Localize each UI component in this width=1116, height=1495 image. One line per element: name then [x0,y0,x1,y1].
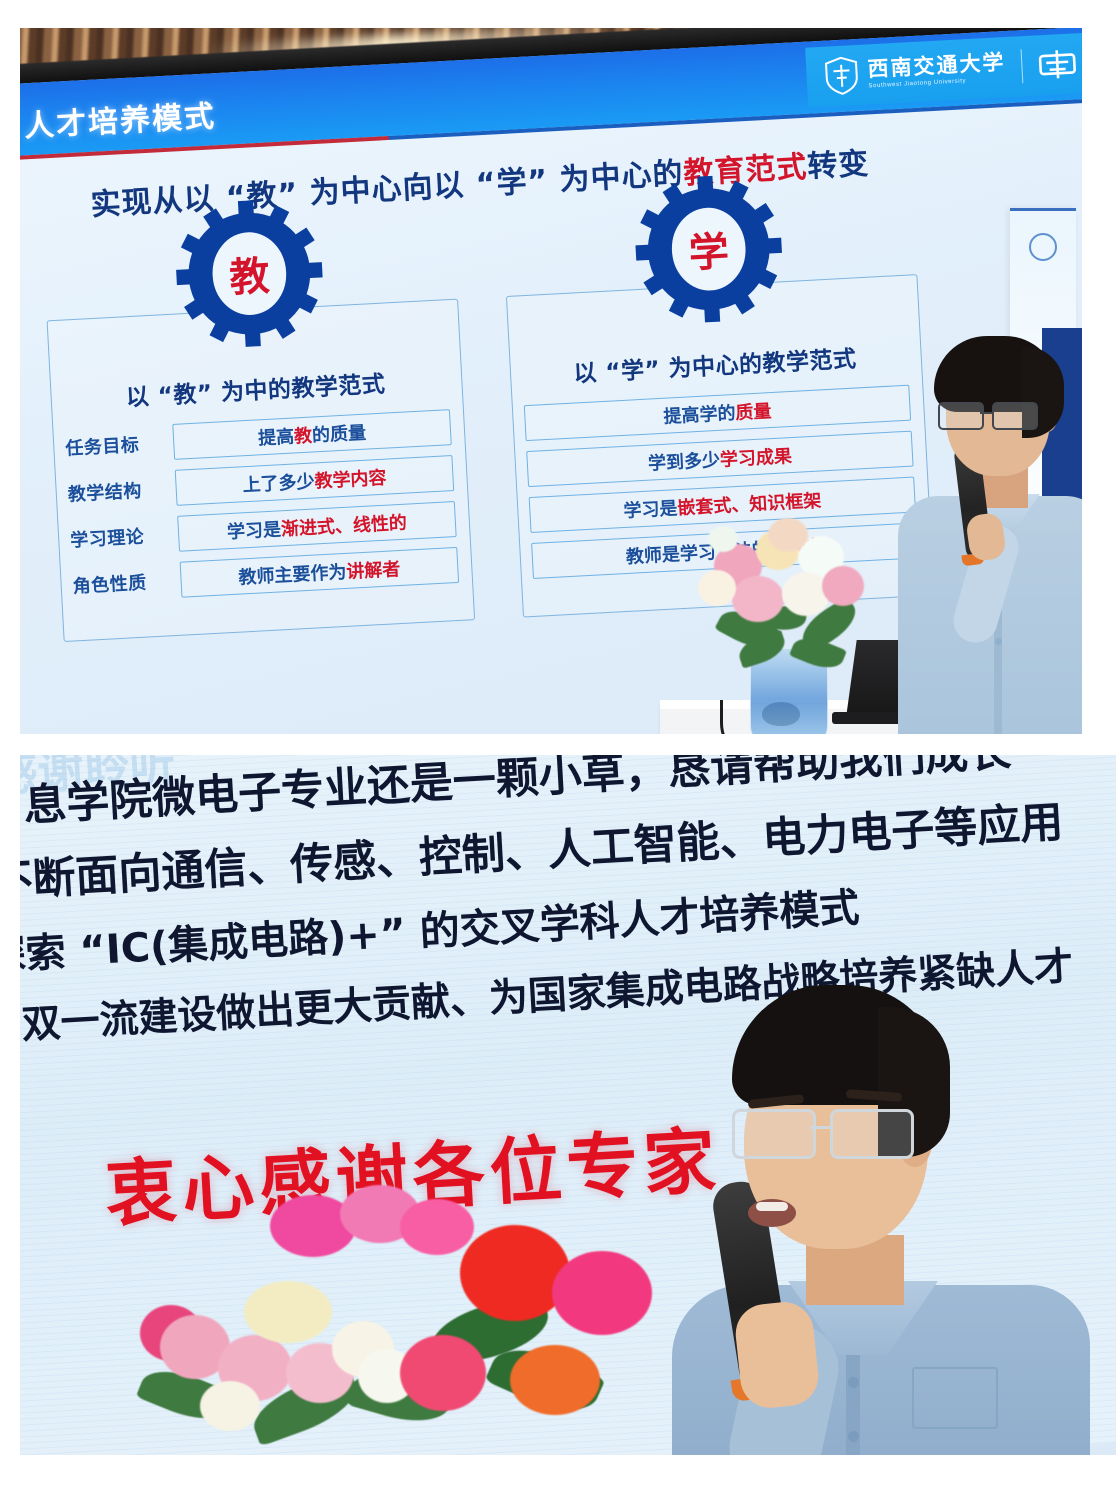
southwest-jiaotong-university-logo: 西南交通大学 Southwest Jiaotong University [824,48,1007,96]
photo-collage-page: 人才培养模式 西南交通大学 Southwest Jiaotong Univers… [0,0,1116,1495]
row-value: 学习是渐进式、线性的 [177,501,457,552]
bottom-photo-presenter [620,985,1090,1455]
bottom-photo: 感谢聆听 息学院微电子专业还是一颗小草，恳请帮助我们成长 不断面向通信、传感、控… [20,755,1116,1455]
top-photo: 人才培养模式 西南交通大学 Southwest Jiaotong Univers… [20,28,1082,734]
row-label: 学习理论 [70,521,179,553]
row-label: 教学结构 [67,475,176,507]
top-photo-presenter [872,328,1082,734]
headline-part-2: 转变 [806,147,870,185]
gear-label-learn: 学 [629,169,789,329]
crrc-logo: 中国中车 CRRC [1038,42,1082,83]
teaching-paradigm-table: 任务目标 提高教的质量 教学结构 上了多少教学内容 学习理论 学习是渐进式、线性… [64,407,459,611]
shirt-button [848,1377,859,1388]
presenter-mouth [748,1199,796,1227]
column-teaching-centered: 教 以 “教” 为中的教学范式 任务目标 提高教的质量 教学结构 上了多少教学内… [43,239,452,261]
mixed-flower-arrangement [100,1185,660,1455]
row-label: 角色性质 [72,567,181,599]
row-value: 上了多少教学内容 [175,455,455,506]
row-label: 任务目标 [65,429,174,461]
crrc-mark-icon [1038,48,1078,80]
column-learning-centered: 学 以 “学” 为中心的教学范式 提高学的质量 学到多少学习成果 学习是嵌套 [503,214,912,236]
eyeglasses-icon [938,402,1046,426]
gear-label-teach: 教 [169,194,329,354]
banner-emblem-icon [1029,233,1057,261]
logo-divider [1021,49,1024,83]
eyeglasses-icon [732,1109,928,1153]
shirt-pocket [912,1367,998,1429]
university-shield-icon [824,56,860,96]
shirt-button [848,1431,859,1442]
row-value: 教师主要作为讲解者 [180,547,460,598]
presenter-hand [733,1299,821,1411]
shirt-button [995,638,1002,645]
gear-icon-teach: 教 [169,194,329,354]
gear-icon-learn: 学 [629,169,789,329]
